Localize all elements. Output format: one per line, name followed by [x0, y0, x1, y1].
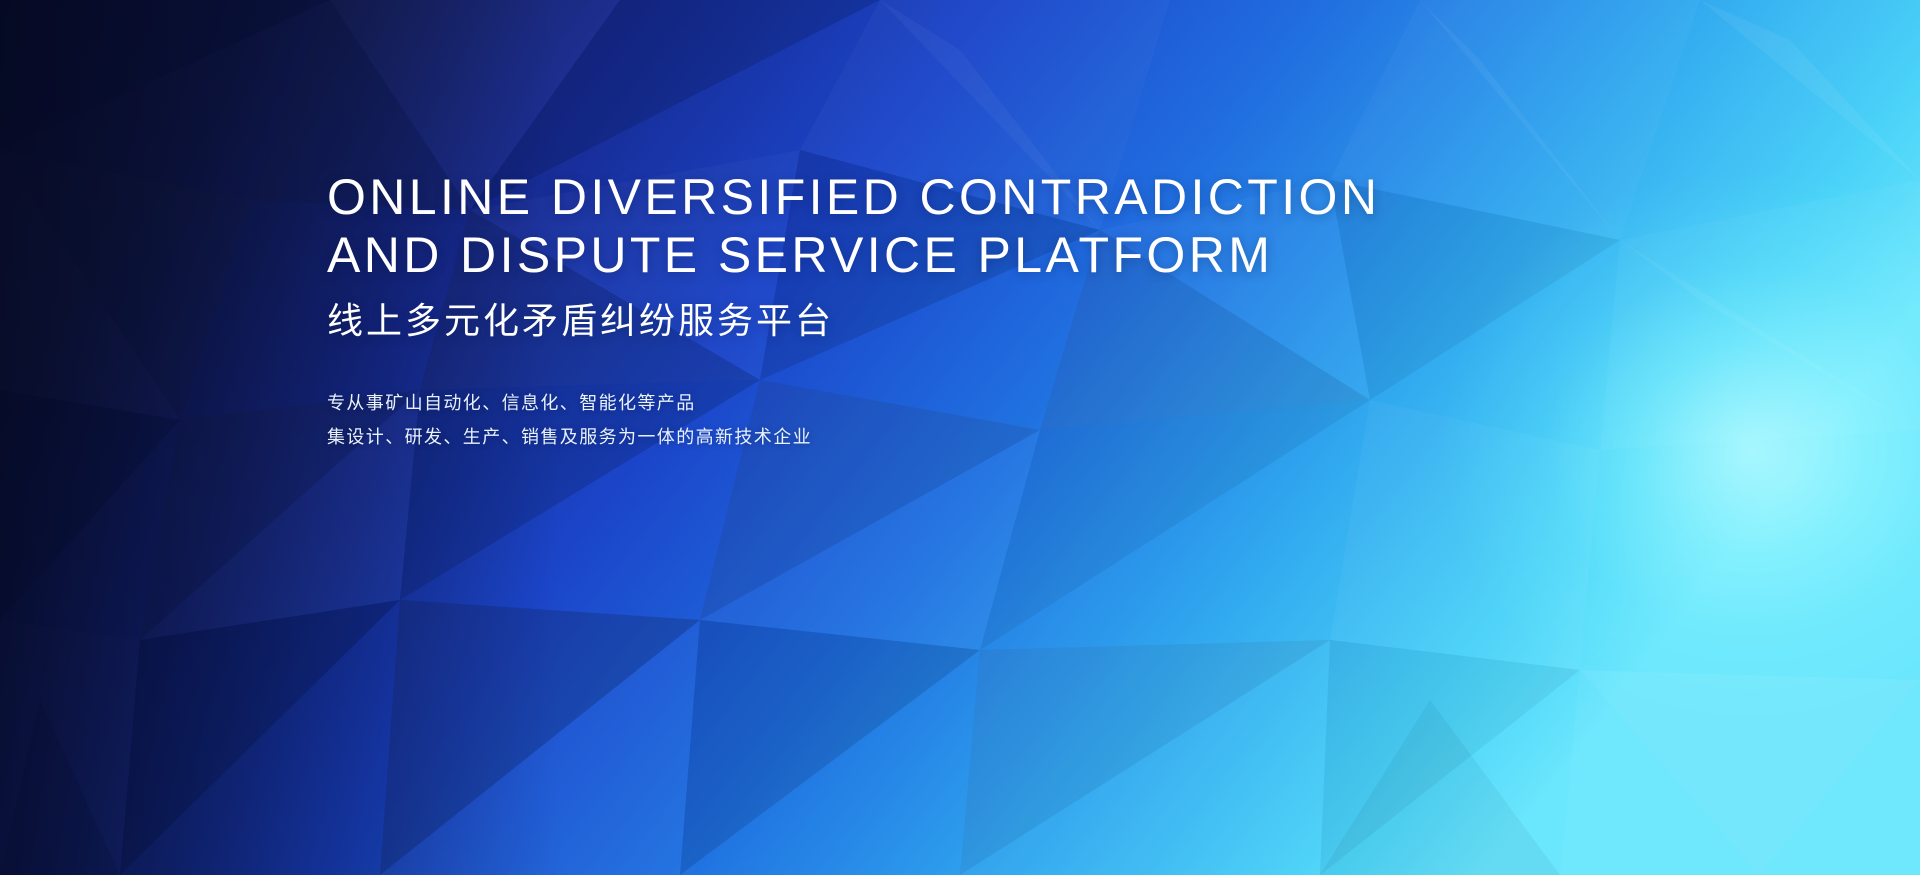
hero-banner: ONLINE DIVERSIFIED CONTRADICTION AND DIS… — [0, 0, 1920, 875]
headline-line-2: AND DISPUTE SERVICE PLATFORM — [327, 226, 1380, 284]
headline-line-1: ONLINE DIVERSIFIED CONTRADICTION — [327, 168, 1380, 226]
description-list: 专从事矿山自动化、信息化、智能化等产品 集设计、研发、生产、销售及服务为一体的高… — [327, 386, 1380, 454]
hero-text-block: ONLINE DIVERSIFIED CONTRADICTION AND DIS… — [327, 168, 1380, 454]
description-line-2: 集设计、研发、生产、销售及服务为一体的高新技术企业 — [327, 420, 1380, 454]
description-line-1: 专从事矿山自动化、信息化、智能化等产品 — [327, 386, 1380, 420]
subtitle-chinese: 线上多元化矛盾纠纷服务平台 — [327, 298, 1380, 344]
